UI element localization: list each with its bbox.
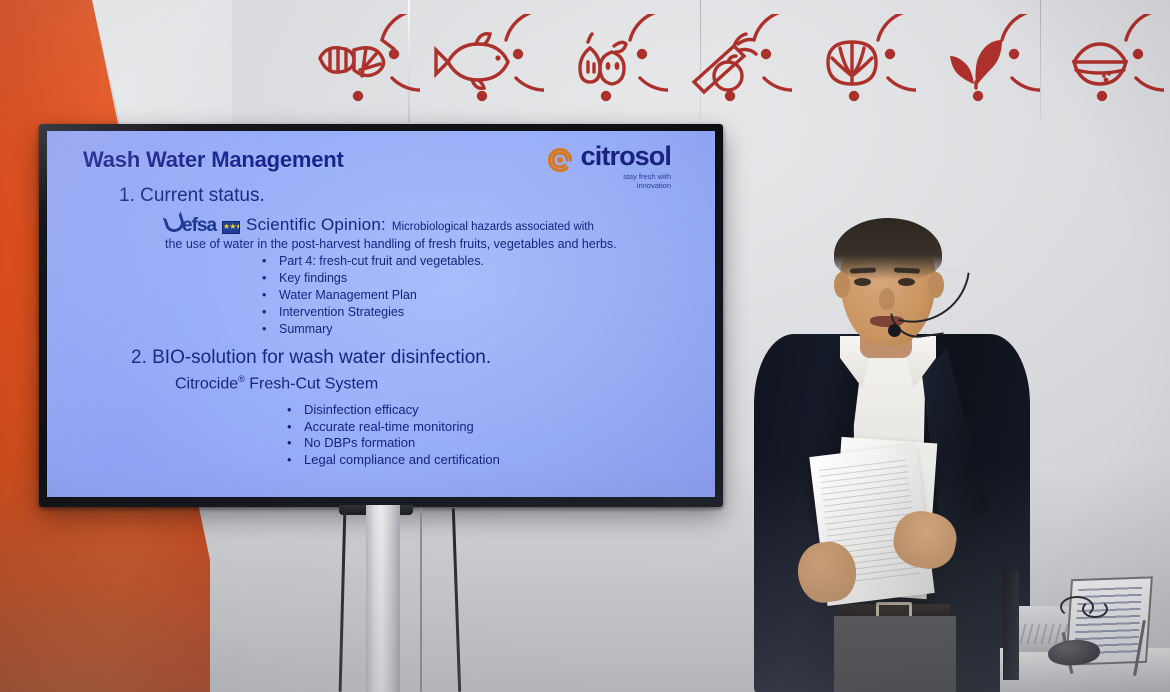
presentation-photo-scene: Wash Water Management citrosol stay fres…	[0, 0, 1170, 692]
photo-vignette	[0, 0, 1170, 692]
